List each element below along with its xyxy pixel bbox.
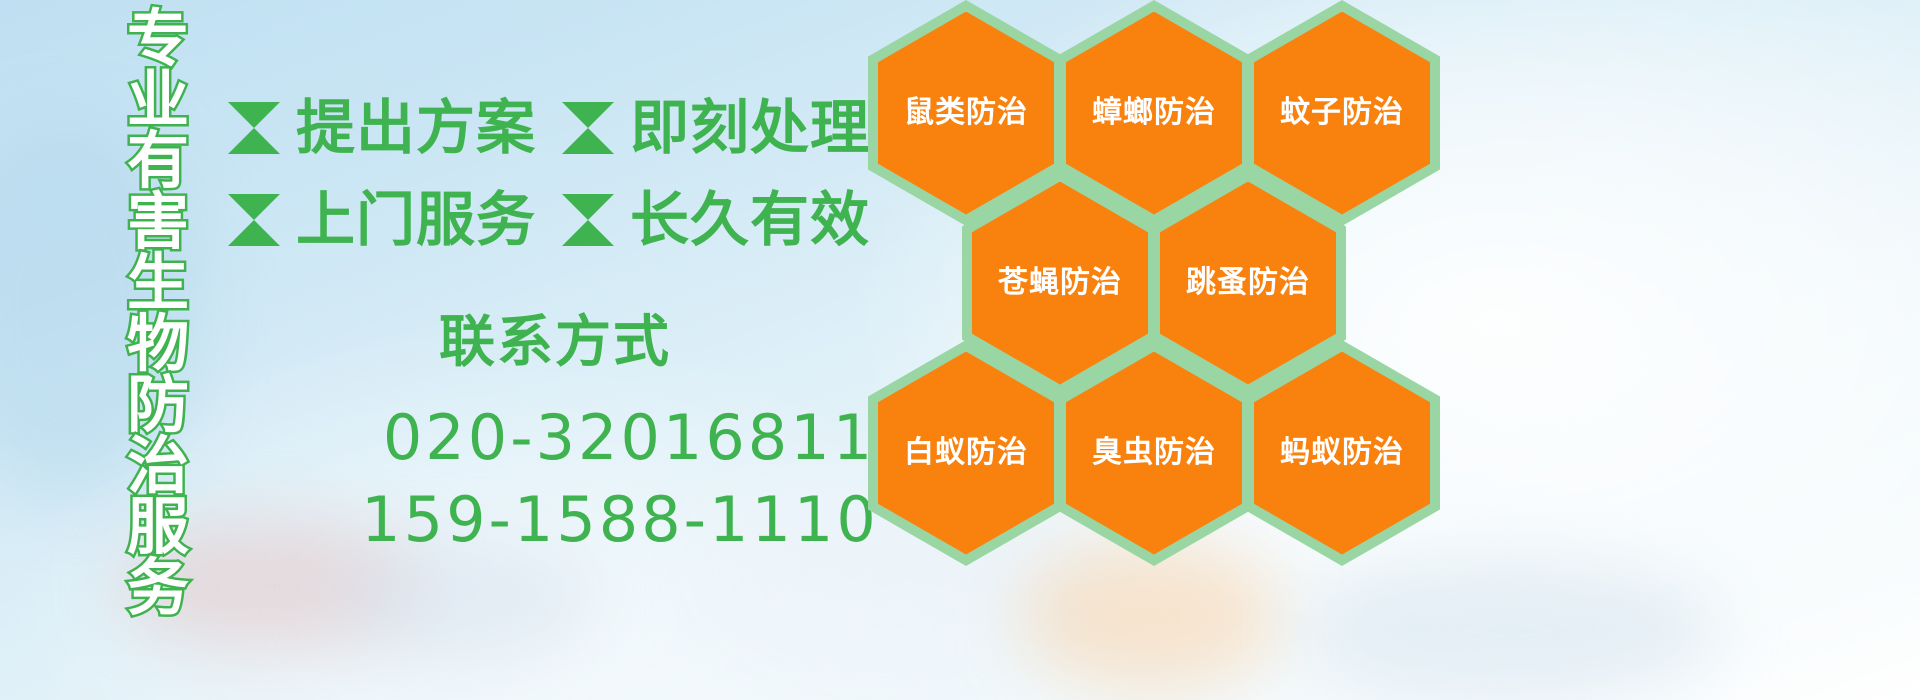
hex-inner: 蚂蚁防治 — [1254, 352, 1430, 555]
hex-label: 跳蚤防治 — [1186, 266, 1310, 300]
pest-control-banner: 专 业 有 害 生 物 防 治 服 务 提出方案 即刻处理 上门服务 — [0, 0, 1920, 700]
phone-number-primary[interactable]: 020-32016811 — [318, 398, 940, 478]
vertical-headline-char: 治 — [127, 435, 189, 496]
hex-inner: 白蚁防治 — [878, 352, 1054, 555]
diamond-bullet-icon — [228, 194, 280, 246]
hex-label: 苍蝇防治 — [998, 266, 1122, 300]
vertical-headline-char: 害 — [127, 191, 189, 252]
feature-item-propose-plan: 提出方案 — [228, 96, 536, 160]
feature-label: 提出方案 — [296, 96, 536, 160]
vertical-headline-char: 有 — [127, 130, 189, 191]
vertical-headline-char: 防 — [127, 374, 189, 435]
feature-label: 即刻处理 — [630, 96, 870, 160]
feature-item-immediate-handling: 即刻处理 — [562, 96, 870, 160]
hex-label: 白蚁防治 — [904, 436, 1028, 470]
vertical-headline-char: 专 — [127, 8, 189, 69]
hex-inner: 跳蚤防治 — [1160, 182, 1336, 385]
hex-label: 蚊子防治 — [1280, 96, 1404, 130]
contact-block: 联系方式 020-32016811 159-1588-1110 — [300, 312, 940, 560]
phone-number-secondary[interactable]: 159-1588-1110 — [300, 480, 940, 560]
hex-inner: 蚊子防治 — [1254, 12, 1430, 215]
contact-heading: 联系方式 — [170, 312, 940, 374]
hex-label: 鼠类防治 — [904, 96, 1028, 130]
diamond-bullet-icon — [562, 194, 614, 246]
hex-inner: 鼠类防治 — [878, 12, 1054, 215]
hex-label: 蟑螂防治 — [1092, 96, 1216, 130]
vertical-headline: 专 业 有 害 生 物 防 治 服 务 — [104, 8, 212, 564]
vertical-headline-char: 服 — [127, 496, 189, 557]
diamond-bullet-icon — [562, 102, 614, 154]
feature-label: 上门服务 — [296, 188, 536, 252]
feature-list: 提出方案 即刻处理 上门服务 长久有效 — [228, 82, 888, 266]
feature-row: 上门服务 长久有效 — [228, 174, 888, 266]
service-honeycomb-grid: 鼠类防治 蟑螂防治 蚊子防治 苍蝇防治 跳蚤防治 白蚁防治 — [858, 0, 1478, 552]
hex-label: 臭虫防治 — [1092, 436, 1216, 470]
hex-inner: 苍蝇防治 — [972, 182, 1148, 385]
background-blob — [1300, 560, 1720, 700]
hex-inner: 臭虫防治 — [1066, 352, 1242, 555]
feature-item-onsite-service: 上门服务 — [228, 188, 536, 252]
vertical-headline-char: 业 — [127, 69, 189, 130]
feature-item-long-lasting: 长久有效 — [562, 188, 870, 252]
feature-row: 提出方案 即刻处理 — [228, 82, 888, 174]
feature-label: 长久有效 — [630, 188, 870, 252]
hex-inner: 蟑螂防治 — [1066, 12, 1242, 215]
diamond-bullet-icon — [228, 102, 280, 154]
vertical-headline-char: 生 — [127, 252, 189, 313]
hex-label: 蚂蚁防治 — [1280, 436, 1404, 470]
vertical-headline-char: 务 — [127, 557, 189, 618]
